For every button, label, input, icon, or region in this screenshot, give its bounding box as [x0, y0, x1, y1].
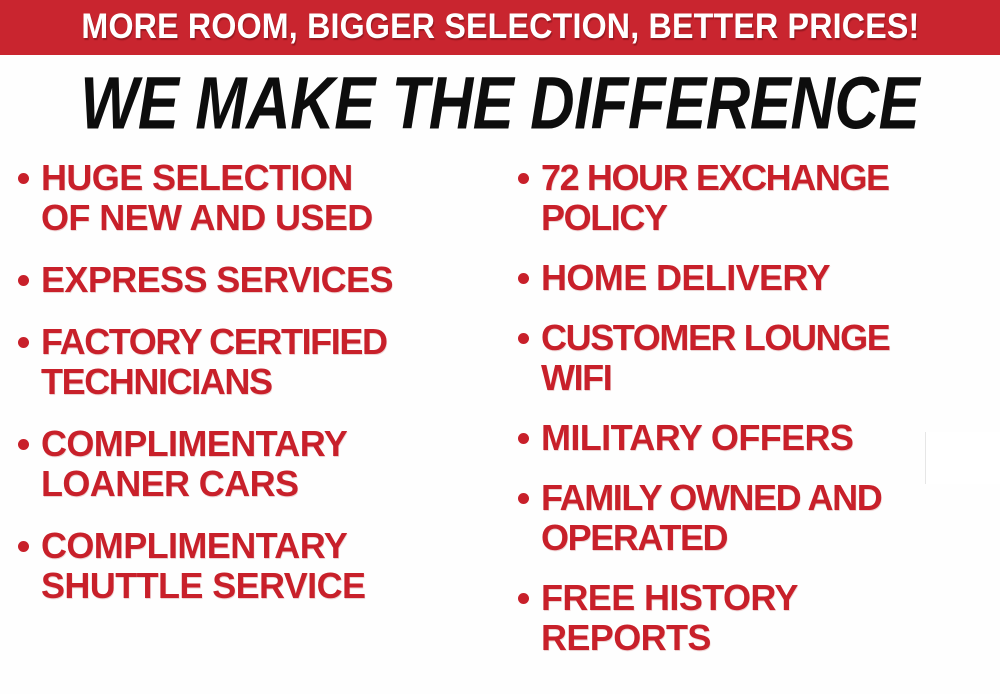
bullet-dot-icon	[518, 333, 529, 344]
list-item: 72 HOUR EXCHANGEPOLICY	[518, 158, 996, 238]
page-title: WE MAKE THE DIFFERENCE	[80, 66, 919, 140]
list-item-label: COMPLIMENTARYSHUTTLE SERVICE	[41, 526, 365, 606]
headline-container: WE MAKE THE DIFFERENCE	[0, 62, 1000, 144]
bullet-dot-icon	[518, 493, 529, 504]
list-item: COMPLIMENTARYSHUTTLE SERVICE	[18, 526, 494, 606]
list-item-line1: MILITARY OFFERS	[541, 417, 853, 458]
list-item-line2: POLICY	[541, 197, 667, 238]
bullet-dot-icon	[518, 433, 529, 444]
feature-columns: HUGE SELECTIONOF NEW AND USED EXPRESS SE…	[0, 158, 1000, 694]
bullet-dot-icon	[18, 275, 29, 286]
list-item: HOME DELIVERY	[518, 258, 996, 298]
list-item: HUGE SELECTIONOF NEW AND USED	[18, 158, 494, 238]
list-item-label: COMPLIMENTARYLOANER CARS	[41, 424, 347, 504]
list-item-line2: OF NEW AND USED	[41, 197, 373, 238]
list-item-label: 72 HOUR EXCHANGEPOLICY	[541, 158, 889, 238]
list-item-line1: 72 HOUR EXCHANGE	[541, 157, 889, 198]
list-item-line2: LOANER CARS	[41, 463, 298, 504]
bullet-dot-icon	[18, 541, 29, 552]
list-item-line2: WIFI	[541, 357, 611, 398]
list-item-label: CUSTOMER LOUNGEWIFI	[541, 318, 889, 398]
feature-column-left: HUGE SELECTIONOF NEW AND USED EXPRESS SE…	[0, 158, 500, 628]
bullet-dot-icon	[18, 337, 29, 348]
list-item: FREE HISTORYREPORTS	[518, 578, 996, 658]
list-item-line1: FREE HISTORY	[541, 577, 798, 618]
promo-banner-text: MORE ROOM, BIGGER SELECTION, BETTER PRIC…	[81, 9, 919, 46]
bullet-dot-icon	[518, 173, 529, 184]
list-item-line1: HUGE SELECTION	[41, 157, 353, 198]
promo-banner: MORE ROOM, BIGGER SELECTION, BETTER PRIC…	[0, 0, 1000, 55]
list-item-label: FACTORY CERTIFIEDTECHNICIANS	[41, 322, 387, 402]
bullet-dot-icon	[18, 173, 29, 184]
list-item-label: FAMILY OWNED ANDOPERATED	[541, 478, 881, 558]
list-item-line2: OPERATED	[541, 517, 727, 558]
bullet-dot-icon	[518, 593, 529, 604]
feature-column-right: 72 HOUR EXCHANGEPOLICY HOME DELIVERY CUS…	[500, 158, 1000, 678]
bullet-dot-icon	[518, 273, 529, 284]
list-item-label: MILITARY OFFERS	[541, 418, 853, 458]
list-item-label: EXPRESS SERVICES	[41, 260, 393, 300]
list-item-line2: TECHNICIANS	[41, 361, 272, 402]
list-item: COMPLIMENTARYLOANER CARS	[18, 424, 494, 504]
list-item-line1: FAMILY OWNED AND	[541, 477, 881, 518]
list-item-line1: EXPRESS SERVICES	[41, 259, 393, 300]
list-item: CUSTOMER LOUNGEWIFI	[518, 318, 996, 398]
list-item: FAMILY OWNED ANDOPERATED	[518, 478, 996, 558]
list-item-label: HOME DELIVERY	[541, 258, 830, 298]
list-item: EXPRESS SERVICES	[18, 260, 494, 300]
list-item-label: FREE HISTORYREPORTS	[541, 578, 798, 658]
list-item-label: HUGE SELECTIONOF NEW AND USED	[41, 158, 373, 238]
list-item-line2: SHUTTLE SERVICE	[41, 565, 365, 606]
advertisement-banner: MORE ROOM, BIGGER SELECTION, BETTER PRIC…	[0, 0, 1000, 694]
list-item: MILITARY OFFERS	[518, 418, 996, 458]
list-item-line1: HOME DELIVERY	[541, 257, 830, 298]
list-item-line1: COMPLIMENTARY	[41, 423, 347, 464]
list-item-line1: FACTORY CERTIFIED	[41, 321, 387, 362]
list-item-line1: COMPLIMENTARY	[41, 525, 347, 566]
list-item-line1: CUSTOMER LOUNGE	[541, 317, 889, 358]
list-item: FACTORY CERTIFIEDTECHNICIANS	[18, 322, 494, 402]
bullet-dot-icon	[18, 439, 29, 450]
list-item-line2: REPORTS	[541, 617, 711, 658]
